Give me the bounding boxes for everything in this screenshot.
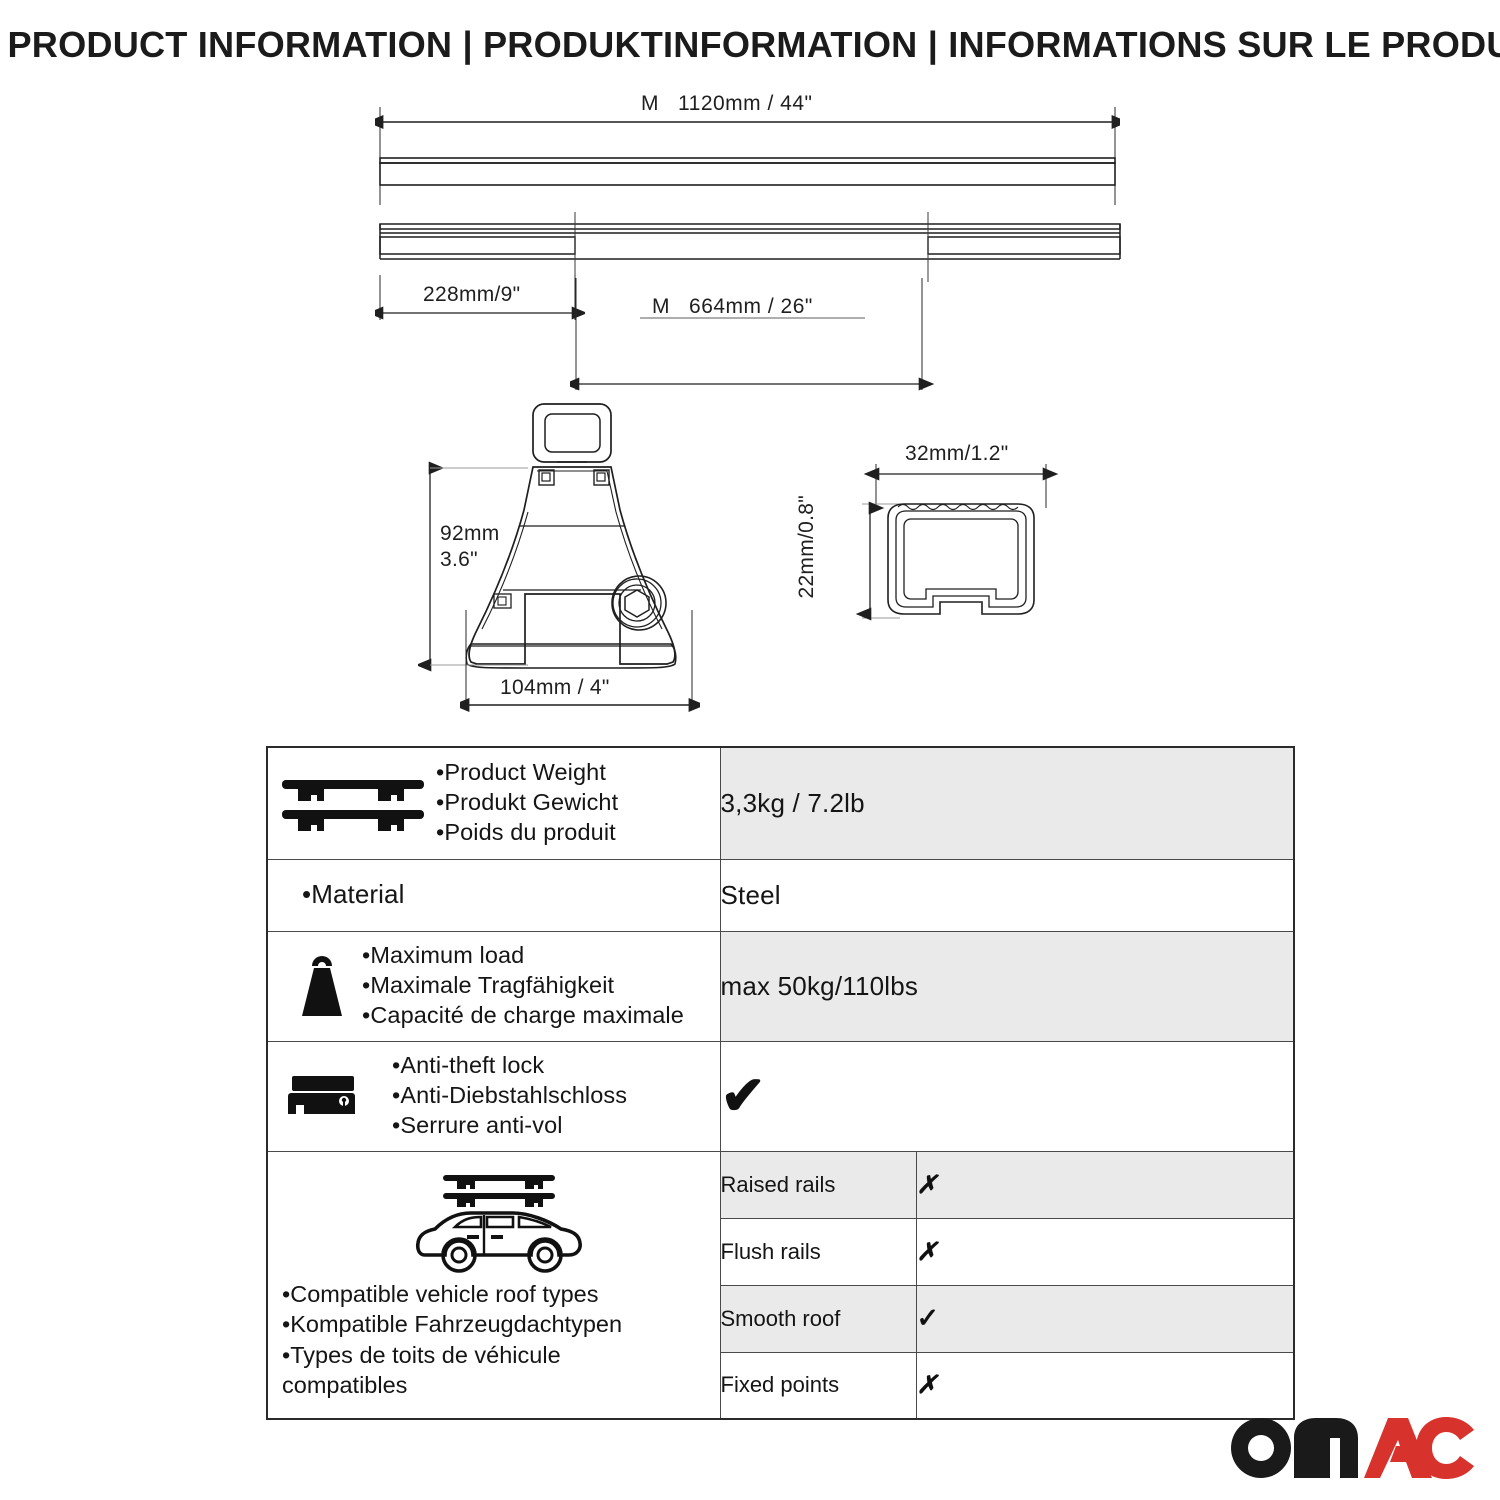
material-labels: •Material [302, 878, 404, 911]
compatibility-labels: •Compatible vehicle roof types •Kompatib… [282, 1279, 622, 1401]
check-icon: ✓ [917, 1303, 940, 1333]
table-row: •Product Weight •Produkt Gewicht •Poids … [267, 747, 1294, 859]
crossbar-plan-view-drawing [375, 212, 1125, 282]
roof-type-name: Raised rails [720, 1151, 916, 1218]
lock-icon [288, 1070, 362, 1122]
crossbar-top-view-drawing [375, 105, 1120, 215]
profile-height-value: 22mm/0.8" [795, 495, 818, 599]
material-label-cell: •Material [267, 859, 720, 931]
spec-label-de: •Produkt Gewicht [436, 788, 618, 818]
product-weight-labels: •Product Weight •Produkt Gewicht •Poids … [436, 758, 618, 848]
compat-label-fr-cont: compatibles [282, 1370, 622, 1401]
compat-label-fr: •Types de toits de véhicule [282, 1340, 622, 1371]
product-weight-label-cell: •Product Weight •Produkt Gewicht •Poids … [267, 747, 720, 859]
car-with-rack-icon [409, 1169, 587, 1277]
max-load-label-cell: •Maximum load •Maximale Tragfähigkeit •C… [267, 931, 720, 1041]
foot-width-dimension-drawing [460, 610, 700, 715]
anti-theft-value: ✔ [720, 1041, 1294, 1151]
table-row: •Maximum load •Maximale Tragfähigkeit •C… [267, 931, 1294, 1041]
anti-theft-labels: •Anti-theft lock •Anti-Diebstahlschloss … [392, 1051, 627, 1141]
spec-label-en: •Material [302, 878, 404, 911]
spec-label-en: •Anti-theft lock [392, 1051, 627, 1081]
spec-label-en: •Maximum load [362, 941, 684, 971]
spec-label-fr: •Capacité de charge maximale [362, 1001, 684, 1031]
table-row: •Anti-theft lock •Anti-Diebstahlschloss … [267, 1041, 1294, 1151]
max-load-value: max 50kg/110lbs [720, 931, 1294, 1041]
cross-icon: ✗ [917, 1371, 938, 1399]
product-information-sheet: PRODUCT INFORMATION | PRODUKTINFORMATION… [0, 0, 1500, 1500]
spec-label-en: •Product Weight [436, 758, 618, 788]
spec-label-de: •Maximale Tragfähigkeit [362, 971, 684, 1001]
spec-label-fr: •Serrure anti-vol [392, 1111, 627, 1141]
compat-label-en: •Compatible vehicle roof types [282, 1279, 622, 1310]
roof-type-support: ✓ [916, 1285, 1294, 1352]
roof-type-name: Flush rails [720, 1218, 916, 1285]
product-weight-value: 3,3kg / 7.2lb [720, 747, 1294, 859]
cross-icon: ✗ [917, 1238, 938, 1266]
bar-span-dimension-drawing [570, 278, 935, 398]
profile-height-dimension-label: 22mm/0.8" [795, 495, 819, 599]
roof-type-support: ✗ [916, 1151, 1294, 1218]
spec-label-fr: •Poids du produit [436, 818, 618, 848]
anti-theft-label-cell: •Anti-theft lock •Anti-Diebstahlschloss … [267, 1041, 720, 1151]
roof-type-name: Smooth roof [720, 1285, 916, 1352]
roof-type-name: Fixed points [720, 1352, 916, 1419]
roof-type-support: ✗ [916, 1218, 1294, 1285]
compatibility-label-cell: •Compatible vehicle roof types •Kompatib… [267, 1151, 720, 1419]
crossbars-icon [278, 772, 428, 834]
page-title: PRODUCT INFORMATION | PRODUKTINFORMATION… [8, 24, 1493, 66]
omac-logo-mark [1228, 1412, 1478, 1482]
omac-logo [1228, 1412, 1478, 1482]
max-load-labels: •Maximum load •Maximale Tragfähigkeit •C… [362, 941, 684, 1031]
roof-type-support: ✗ [916, 1352, 1294, 1419]
table-row: •Material Steel [267, 859, 1294, 931]
table-row: •Compatible vehicle roof types •Kompatib… [267, 1151, 1294, 1218]
crossbar-cross-section-drawing [840, 460, 1100, 650]
spec-label-de: •Anti-Diebstahlschloss [392, 1081, 627, 1111]
specification-table: •Product Weight •Produkt Gewicht •Poids … [266, 746, 1295, 1420]
weight-icon [290, 952, 354, 1020]
foot-offset-dimension-drawing [375, 275, 585, 325]
material-value: Steel [720, 859, 1294, 931]
compat-label-de: •Kompatible Fahrzeugdachtypen [282, 1309, 622, 1340]
cross-icon: ✗ [917, 1171, 938, 1199]
